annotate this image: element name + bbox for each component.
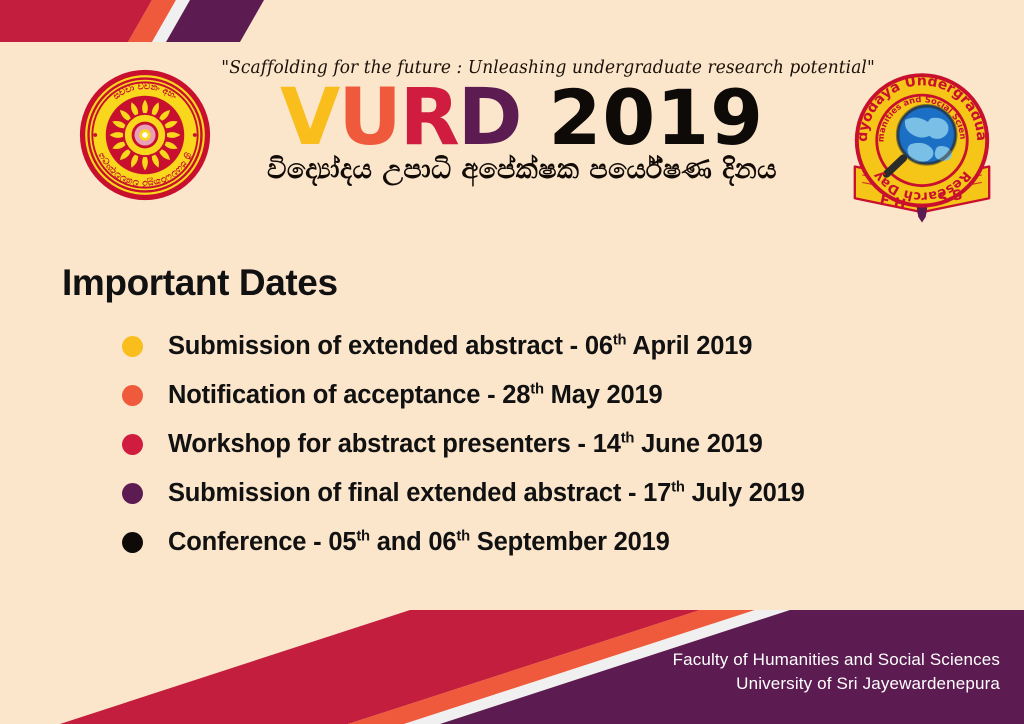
vurd-emblem-icon: Vidyodaya Undergraduate Humanities and S… xyxy=(838,62,1006,230)
date-label: Notification of acceptance - 28th May 20… xyxy=(168,381,662,410)
list-item: Submission of final extended abstract - … xyxy=(122,469,1024,518)
bullet-icon xyxy=(122,483,143,504)
bullet-icon xyxy=(122,385,143,406)
bullet-icon xyxy=(122,336,143,357)
list-item: Submission of extended abstract - 06th A… xyxy=(122,322,1024,371)
main-content: Important Dates Submission of extended a… xyxy=(0,262,1024,567)
footer-affiliation: Faculty of Humanities and Social Science… xyxy=(673,648,1000,696)
wordmark-letter-r: R xyxy=(400,73,458,163)
date-label: Submission of extended abstract - 06th A… xyxy=(168,332,752,361)
vurd-wordmark: VURD2019 xyxy=(212,80,832,156)
footer-line-2: University of Sri Jayewardenepura xyxy=(673,672,1000,696)
wordmark-letter-v: V xyxy=(280,73,338,163)
footer-line-1: Faculty of Humanities and Social Science… xyxy=(673,648,1000,672)
sinhala-subtitle: විද්‍යෝදය උපාධි අපේක්ෂක පර්යේෂණ දිනය xyxy=(212,154,832,186)
list-item: Conference - 05th and 06th September 201… xyxy=(122,518,1024,567)
bullet-icon xyxy=(122,434,143,455)
date-label: Submission of final extended abstract - … xyxy=(168,479,805,508)
bullet-icon xyxy=(122,532,143,553)
date-label: Conference - 05th and 06th September 201… xyxy=(168,528,670,557)
tagline: "Scaffolding for the future : Unleashing… xyxy=(221,58,822,78)
date-label: Workshop for abstract presenters - 14th … xyxy=(168,430,763,459)
wordmark-letter-u: U xyxy=(338,73,399,163)
wordmark-year: 2019 xyxy=(549,73,765,162)
poster-header: සච්චා වචනං අහං ශ්‍රී ජයවර්ධනපුර විශ්වවිද… xyxy=(0,58,1024,238)
wordmark-letter-d: D xyxy=(458,73,521,163)
page-title: Important Dates xyxy=(62,262,1024,304)
top-diagonal-banner xyxy=(0,0,1024,42)
important-dates-list: Submission of extended abstract - 06th A… xyxy=(122,322,1024,567)
list-item: Notification of acceptance - 28th May 20… xyxy=(122,371,1024,420)
title-block: "Scaffolding for the future : Unleashing… xyxy=(212,58,832,186)
list-item: Workshop for abstract presenters - 14th … xyxy=(122,420,1024,469)
top-band-crimson xyxy=(0,0,152,42)
university-seal-icon: සච්චා වචනං අහං ශ්‍රී ජයවර්ධනපුර විශ්වවිද… xyxy=(78,68,212,202)
